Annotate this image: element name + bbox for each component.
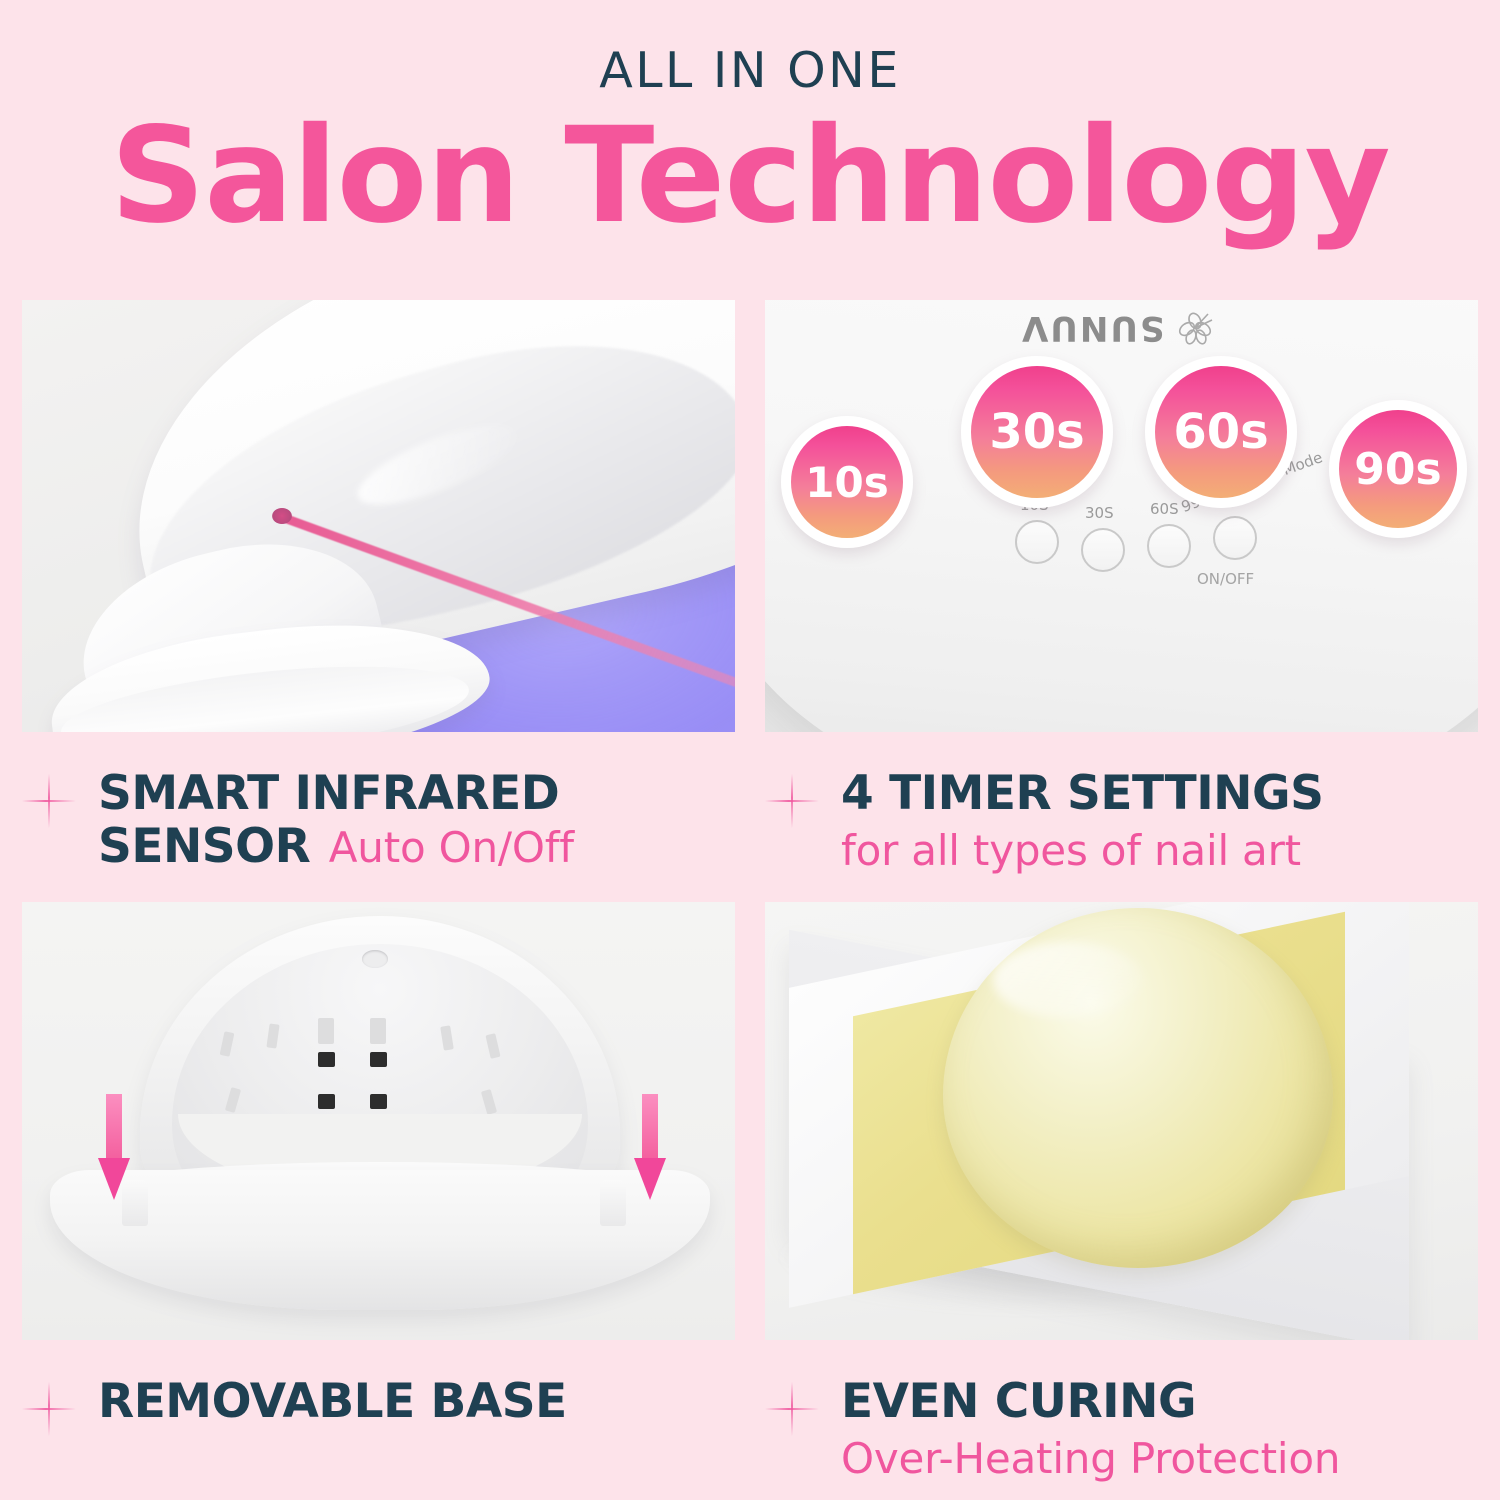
- timer-bubble-10s[interactable]: 10s: [781, 416, 913, 548]
- panel-removable-base: [22, 902, 735, 1340]
- caption-subtitle: Auto On/Off: [329, 823, 574, 872]
- caption-title: REMOVABLE BASE: [98, 1374, 567, 1429]
- caption-smart-infrared-sensor: SMART INFRARED SENSOR Auto On/Off: [22, 732, 735, 902]
- panel-smart-infrared-sensor: [22, 300, 735, 732]
- led-chip: [370, 1094, 387, 1109]
- caption-even-curing: EVEN CURING Over-Heating Protection: [765, 1340, 1478, 1500]
- panel-even-curing: [765, 902, 1478, 1340]
- timer-bubble-30s[interactable]: 30s: [961, 356, 1113, 508]
- timer-bubble-60s[interactable]: 60s: [1145, 356, 1297, 508]
- caption-text: 4 TIMER SETTINGS for all types of nail a…: [841, 768, 1323, 874]
- header-eyebrow: ALL IN ONE: [0, 46, 1500, 95]
- caption-title-line1: SMART INFRARED: [98, 766, 559, 821]
- caption-title: 4 TIMER SETTINGS: [841, 766, 1323, 821]
- caption-subtitle: for all types of nail art: [841, 827, 1323, 874]
- timer-bubble-group: 10s 30s 60s 90s: [765, 338, 1478, 568]
- caption-title: EVEN CURING: [841, 1374, 1196, 1429]
- caption-subtitle: Over-Heating Protection: [841, 1435, 1340, 1482]
- sparkle-icon: [22, 774, 76, 828]
- lens-highlight: [993, 942, 1143, 1018]
- caption-timer-settings: 4 TIMER SETTINGS for all types of nail a…: [765, 732, 1478, 902]
- base-peg: [600, 1180, 626, 1226]
- feature-grid: SUNUV 10S 30S: [22, 300, 1478, 1500]
- caption-text: EVEN CURING Over-Heating Protection: [841, 1376, 1340, 1482]
- panel-timer-settings: SUNUV 10S 30S: [765, 300, 1478, 732]
- led-chip: [318, 1052, 335, 1067]
- caption-text: SMART INFRARED SENSOR Auto On/Off: [98, 768, 574, 873]
- sparkle-icon: [765, 774, 819, 828]
- down-arrow-icon: [634, 1094, 664, 1206]
- timer-bubble-90s[interactable]: 90s: [1329, 400, 1467, 538]
- led-chip: [318, 1094, 335, 1109]
- led-chip: [370, 1052, 387, 1067]
- led-slot: [370, 1018, 386, 1044]
- caption-removable-base: REMOVABLE BASE: [22, 1340, 735, 1500]
- page-header: ALL IN ONE Salon Technology: [0, 0, 1500, 244]
- dome-sensor: [362, 950, 388, 968]
- led-slot: [318, 1018, 334, 1044]
- caption-title-line2: SENSOR: [98, 819, 310, 874]
- sparkle-icon: [765, 1382, 819, 1436]
- sparkle-icon: [22, 1382, 76, 1436]
- caption-text: REMOVABLE BASE: [98, 1376, 567, 1429]
- device-label-on-off: ON/OFF: [1197, 570, 1254, 588]
- down-arrow-icon: [98, 1094, 128, 1206]
- page-title: Salon Technology: [0, 109, 1500, 244]
- infrared-sensor-dot: [272, 508, 292, 524]
